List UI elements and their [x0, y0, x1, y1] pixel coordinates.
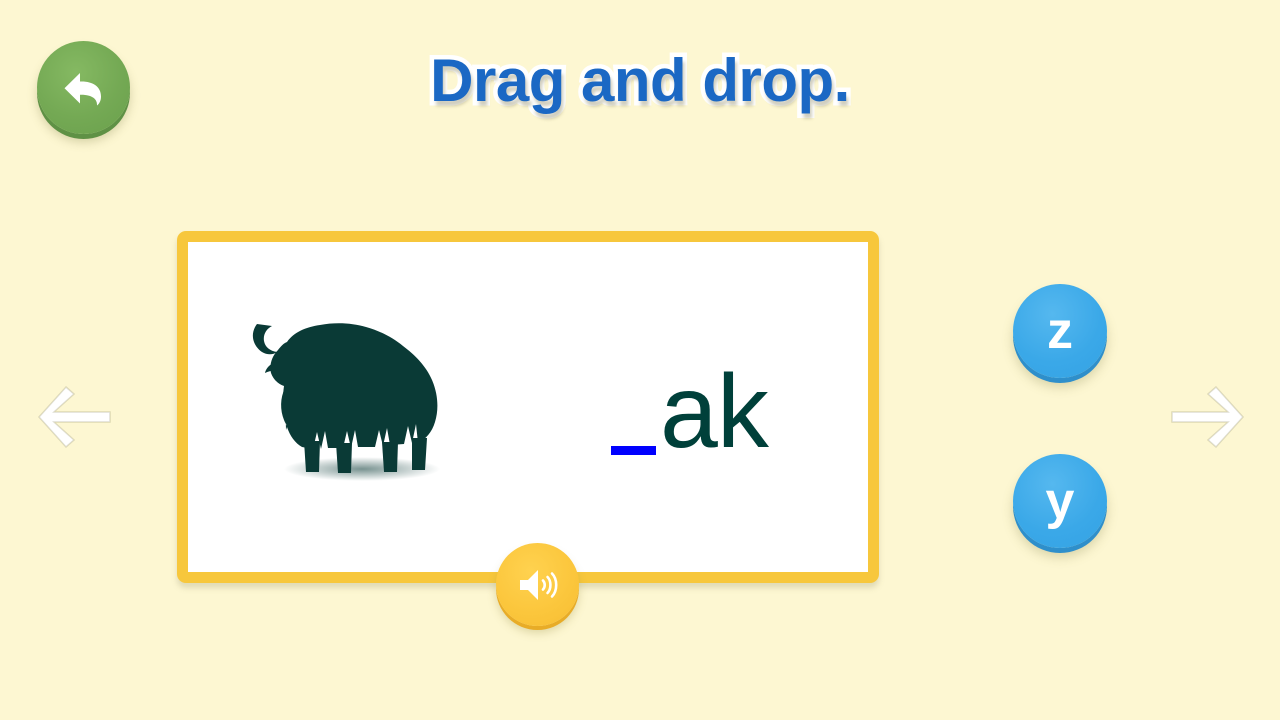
word-suffix: ak [660, 360, 768, 464]
letter-tile-z[interactable]: z [1013, 284, 1107, 378]
blank-underline [611, 446, 656, 455]
letter-drop-slot[interactable] [608, 360, 660, 464]
next-button[interactable] [1166, 377, 1246, 453]
audio-play-button[interactable] [496, 543, 579, 626]
arrow-right-icon [1166, 377, 1246, 453]
arrow-left-icon [36, 377, 116, 453]
word-display: ak [608, 360, 848, 480]
letter-tile-y[interactable]: y [1013, 454, 1107, 548]
previous-button[interactable] [36, 377, 116, 453]
speaker-icon [515, 562, 561, 608]
page-title: Drag and drop. [0, 46, 1280, 115]
card-inner: ak [188, 242, 868, 572]
word-card: ak [177, 231, 879, 583]
word-text: ak [608, 360, 768, 464]
yak-silhouette-icon [240, 302, 480, 492]
